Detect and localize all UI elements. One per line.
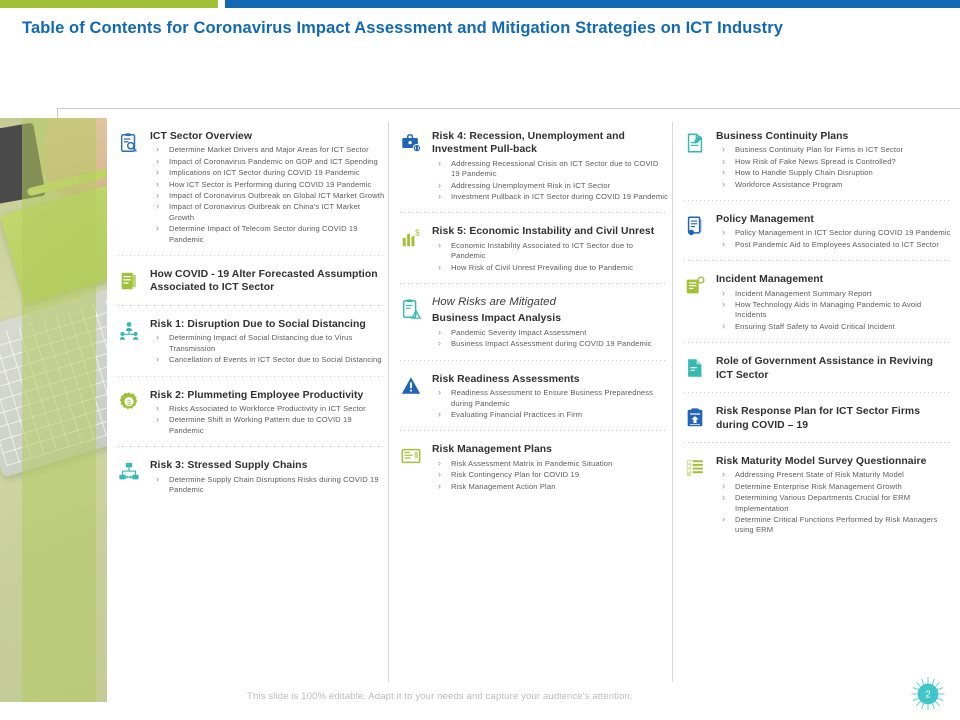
page-number-text: 2 bbox=[925, 690, 931, 701]
clipboard-analysis-icon bbox=[400, 298, 424, 322]
page-number-badge: 2 bbox=[910, 676, 946, 712]
toc-block-title[interactable]: Business Continuity Plans bbox=[716, 130, 952, 143]
toc-bullet-item[interactable]: Impact of Coronavirus Outbreak on Global… bbox=[153, 191, 386, 201]
dotted-separator bbox=[684, 200, 952, 201]
toc-block[interactable]: Policy ManagementPolicy Management in IC… bbox=[684, 213, 952, 250]
toc-block-title[interactable]: Incident Management bbox=[716, 273, 952, 286]
policy-book-icon bbox=[684, 215, 708, 239]
toc-bullet-item[interactable]: How ICT Sector is Performing during COVI… bbox=[153, 180, 386, 190]
warning-triangle-icon bbox=[400, 375, 424, 399]
toc-bullet-item[interactable]: Business Continuity Plan for Firms in IC… bbox=[719, 145, 952, 155]
toc-bullet-item[interactable]: Determine Critical Functions Performed b… bbox=[719, 515, 952, 536]
bar-chart-dollar-icon: $ bbox=[400, 227, 424, 251]
toc-block[interactable]: Risk Management PlansRisk Assessment Mat… bbox=[400, 443, 668, 492]
dotted-separator bbox=[118, 305, 386, 306]
toc-bullet-item[interactable]: Readiness Assessment to Ensure Business … bbox=[435, 388, 668, 409]
column-1: ICT Sector OverviewDetermine Market Driv… bbox=[118, 130, 386, 496]
management-plan-icon bbox=[400, 445, 424, 469]
toc-bullet-item[interactable]: Ensuring Staff Safety to Avoid Critical … bbox=[719, 322, 952, 332]
toc-bullet-item[interactable]: Business Impact Assessment during COVID … bbox=[435, 339, 668, 349]
svg-text:$: $ bbox=[415, 229, 420, 238]
toc-block-title[interactable]: Risk 3: Stressed Supply Chains bbox=[150, 459, 386, 472]
column-divider-1 bbox=[388, 122, 389, 682]
toc-block-title[interactable]: Risk 5: Economic Instability and Civil U… bbox=[432, 225, 668, 238]
dotted-separator bbox=[684, 442, 952, 443]
incident-report-icon bbox=[684, 275, 708, 299]
toc-block[interactable]: How Risks are MitigatedBusiness Impact A… bbox=[400, 296, 668, 350]
footer-note: This slide is 100% editable. Adapt it to… bbox=[247, 691, 633, 702]
toc-bullet-list: Risk Assessment Matrix in Pandemic Situa… bbox=[435, 459, 668, 492]
productivity-gear-icon: $ bbox=[118, 391, 142, 415]
toc-bullet-item[interactable]: Addressing Present State of Risk Maturit… bbox=[719, 470, 952, 480]
toc-bullet-item[interactable]: Impact of Coronavirus Outbreak on China'… bbox=[153, 202, 386, 223]
toc-bullet-item[interactable]: Risk Management Action Plan bbox=[435, 482, 668, 492]
slide-header: Table of Contents for Coronavirus Impact… bbox=[0, 8, 960, 48]
dotted-separator bbox=[684, 342, 952, 343]
toc-block[interactable]: $Risk 5: Economic Instability and Civil … bbox=[400, 225, 668, 273]
toc-bullet-item[interactable]: How Risk of Fake News Spread is Controll… bbox=[719, 157, 952, 167]
dotted-separator bbox=[400, 212, 668, 213]
toc-bullet-item[interactable]: Post Pandemic Aid to Employees Associate… bbox=[719, 240, 952, 250]
toc-block-title[interactable]: Policy Management bbox=[716, 213, 952, 226]
toc-block[interactable]: Risk 3: Stressed Supply ChainsDetermine … bbox=[118, 459, 386, 495]
toc-bullet-list: Pandemic Severity Impact AssessmentBusin… bbox=[435, 328, 668, 350]
toc-bullet-item[interactable]: How to Handle Supply Chain Disruption bbox=[719, 168, 952, 178]
toc-block[interactable]: Risk 4: Recession, Unemployment and Inve… bbox=[400, 130, 668, 202]
page-title: Table of Contents for Coronavirus Impact… bbox=[22, 19, 783, 38]
toc-block-title[interactable]: Business Impact Analysis bbox=[432, 312, 668, 325]
toc-block-title[interactable]: ICT Sector Overview bbox=[150, 130, 386, 143]
toc-bullet-item[interactable]: Risks Associated to Workforce Productivi… bbox=[153, 404, 386, 414]
toc-section-eyebrow: How Risks are Mitigated bbox=[432, 296, 668, 309]
toc-block[interactable]: Business Continuity PlansBusiness Contin… bbox=[684, 130, 952, 190]
toc-block-title[interactable]: Role of Government Assistance in Revivin… bbox=[716, 355, 952, 382]
toc-block[interactable]: Role of Government Assistance in Revivin… bbox=[684, 355, 952, 382]
social-distancing-icon bbox=[118, 320, 142, 344]
toc-bullet-item[interactable]: Impact of Coronavirus Pandemic on GDP an… bbox=[153, 157, 386, 167]
survey-list-icon bbox=[684, 457, 708, 481]
toc-block[interactable]: Risk Readiness AssessmentsReadiness Asse… bbox=[400, 373, 668, 421]
content-frame-left-tick bbox=[57, 108, 58, 118]
checklist-document-icon bbox=[118, 270, 142, 294]
toc-bullet-list: Determine Market Drivers and Major Areas… bbox=[153, 145, 386, 245]
toc-bullet-item[interactable]: Implications on ICT Sector during COVID … bbox=[153, 168, 386, 178]
toc-block[interactable]: Risk Response Plan for ICT Sector Firms … bbox=[684, 405, 952, 432]
toc-bullet-item[interactable]: Determine Supply Chain Disruptions Risks… bbox=[153, 475, 386, 496]
dotted-separator bbox=[400, 430, 668, 431]
response-plan-icon bbox=[684, 407, 708, 431]
dotted-separator bbox=[400, 283, 668, 284]
toc-block-title[interactable]: Risk 2: Plummeting Employee Productivity bbox=[150, 389, 386, 402]
toc-block-title[interactable]: Risk 4: Recession, Unemployment and Inve… bbox=[432, 130, 668, 157]
toc-bullet-list: Readiness Assessment to Ensure Business … bbox=[435, 388, 668, 420]
toc-bullet-list: Incident Management Summary ReportHow Te… bbox=[719, 289, 952, 333]
dotted-separator bbox=[118, 446, 386, 447]
photo-green-overlay bbox=[22, 118, 96, 702]
toc-bullet-list: Addressing Recessional Crisis on ICT Sec… bbox=[435, 159, 668, 203]
government-document-icon bbox=[684, 357, 708, 381]
column-divider-2 bbox=[672, 122, 673, 682]
toc-block[interactable]: Incident ManagementIncident Management S… bbox=[684, 273, 952, 332]
toc-bullet-list: Risks Associated to Workforce Productivi… bbox=[153, 404, 386, 436]
column-2: Risk 4: Recession, Unemployment and Inve… bbox=[400, 130, 668, 493]
toc-bullet-item[interactable]: Addressing Unemployment Risk in ICT Sect… bbox=[435, 181, 668, 191]
toc-block[interactable]: $Risk 2: Plummeting Employee Productivit… bbox=[118, 389, 386, 437]
toc-bullet-item[interactable]: Risk Assessment Matrix in Pandemic Situa… bbox=[435, 459, 668, 469]
toc-bullet-list: Determining Impact of Social Distancing … bbox=[153, 333, 386, 365]
toc-bullet-item[interactable]: Determining Impact of Social Distancing … bbox=[153, 333, 386, 354]
dotted-separator bbox=[400, 360, 668, 361]
toc-bullet-item[interactable]: Cancellation of Events in ICT Sector due… bbox=[153, 355, 386, 365]
toc-bullet-list: Business Continuity Plan for Firms in IC… bbox=[719, 145, 952, 190]
slide-root: Table of Contents for Coronavirus Impact… bbox=[0, 0, 960, 720]
toc-bullet-item[interactable]: Risk Contingency Plan for COVID 19 bbox=[435, 470, 668, 480]
toc-bullet-list: Economic Instability Associated to ICT S… bbox=[435, 241, 668, 273]
toc-bullet-item[interactable]: Determine Impact of Telecom Sector durin… bbox=[153, 224, 386, 245]
toc-bullet-item[interactable]: How Risk of Civil Unrest Prevailing due … bbox=[435, 263, 668, 273]
toc-block[interactable]: Risk 1: Disruption Due to Social Distanc… bbox=[118, 318, 386, 366]
toc-bullet-item[interactable]: Determine Shift in Working Pattern due t… bbox=[153, 415, 386, 436]
toc-block-title[interactable]: How COVID - 19 Alter Forecasted Assumpti… bbox=[150, 268, 386, 295]
toc-bullet-item[interactable]: Determine Enterprise Risk Management Gro… bbox=[719, 482, 952, 492]
toc-block-title[interactable]: Risk Management Plans bbox=[432, 443, 668, 456]
toc-bullet-item[interactable]: Addressing Recessional Crisis on ICT Sec… bbox=[435, 159, 668, 180]
toc-bullet-item[interactable]: Incident Management Summary Report bbox=[719, 289, 952, 299]
decorative-photo bbox=[0, 118, 107, 702]
top-accent-bar-blue bbox=[225, 0, 960, 8]
toc-block-title[interactable]: Risk Response Plan for ICT Sector Firms … bbox=[716, 405, 952, 432]
briefcase-alert-icon bbox=[400, 132, 424, 156]
toc-block-title[interactable]: Risk 1: Disruption Due to Social Distanc… bbox=[150, 318, 386, 331]
toc-bullet-list: Determine Supply Chain Disruptions Risks… bbox=[153, 475, 386, 496]
toc-block[interactable]: Risk Maturity Model Survey Questionnaire… bbox=[684, 455, 952, 536]
clipboard-search-icon bbox=[118, 132, 142, 156]
toc-block-title[interactable]: Risk Readiness Assessments bbox=[432, 373, 668, 386]
toc-block-title[interactable]: Risk Maturity Model Survey Questionnaire bbox=[716, 455, 952, 468]
toc-bullet-item[interactable]: Evaluating Financial Practices in Firm bbox=[435, 410, 668, 420]
dotted-separator bbox=[118, 255, 386, 256]
toc-bullet-item[interactable]: Policy Management in ICT Sector during C… bbox=[719, 228, 952, 238]
toc-bullet-item[interactable]: Determining Various Departments Crucial … bbox=[719, 493, 952, 514]
toc-bullet-item[interactable]: Workforce Assistance Program bbox=[719, 180, 952, 190]
toc-block[interactable]: How COVID - 19 Alter Forecasted Assumpti… bbox=[118, 268, 386, 295]
toc-bullet-item[interactable]: Pandemic Severity Impact Assessment bbox=[435, 328, 668, 338]
dotted-separator bbox=[118, 376, 386, 377]
toc-bullet-list: Addressing Present State of Risk Maturit… bbox=[719, 470, 952, 535]
toc-bullet-item[interactable]: Economic Instability Associated to ICT S… bbox=[435, 241, 668, 262]
svg-text:$: $ bbox=[127, 399, 131, 406]
toc-bullet-item[interactable]: Determine Market Drivers and Major Areas… bbox=[153, 145, 386, 155]
column-3: Business Continuity PlansBusiness Contin… bbox=[684, 130, 952, 537]
dotted-separator bbox=[684, 392, 952, 393]
toc-bullet-item[interactable]: How Technology Aids in Managing Pandemic… bbox=[719, 300, 952, 321]
top-accent-bar-green bbox=[0, 0, 218, 8]
toc-bullet-list: Policy Management in ICT Sector during C… bbox=[719, 228, 952, 250]
supply-chain-icon bbox=[118, 461, 142, 485]
toc-block[interactable]: ICT Sector OverviewDetermine Market Driv… bbox=[118, 130, 386, 245]
toc-bullet-item[interactable]: Investment Pullback in ICT Sector during… bbox=[435, 192, 668, 202]
content-frame-top-rule bbox=[57, 108, 960, 109]
dotted-separator bbox=[684, 260, 952, 261]
document-edit-icon bbox=[684, 132, 708, 156]
